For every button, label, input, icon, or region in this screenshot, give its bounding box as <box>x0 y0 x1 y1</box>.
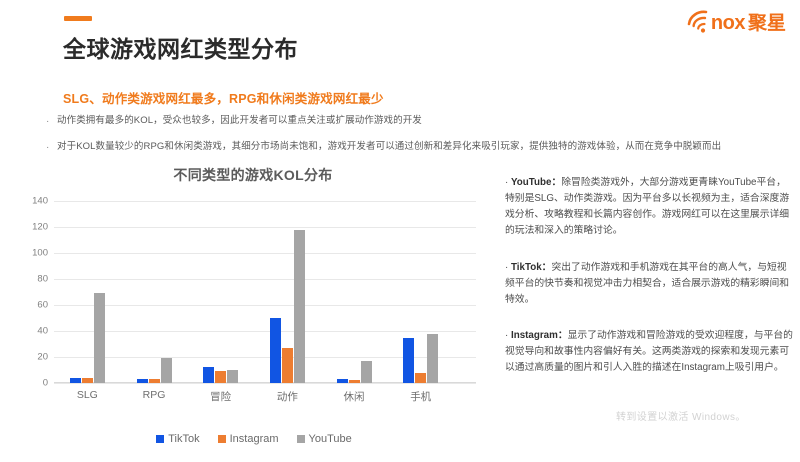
chart-y-tick-label: 20 <box>37 352 48 363</box>
chart-bar-instagram-手机[interactable] <box>415 373 426 383</box>
chart-plot-area: 140120100806040200 <box>54 201 454 383</box>
logo-wordmark: nox <box>711 13 745 33</box>
chart-bar-group <box>54 201 121 383</box>
note-instagram: · Instagram：显示了动作游戏和冒险游戏的受欢迎程度，与平台的视觉导向和… <box>505 328 793 376</box>
chart-x-tick-label: 手机 <box>387 389 454 404</box>
watermark-line: 转到设置以激活 Windows。 <box>616 408 746 423</box>
chart-bar-instagram-动作[interactable] <box>282 348 293 383</box>
chart-y-tick-label: 0 <box>43 378 48 389</box>
bullet-marker: · <box>46 114 57 129</box>
legend-label: TikTok <box>168 433 199 445</box>
chart-bar-tiktok-冒险[interactable] <box>203 367 214 383</box>
chart-title: 不同类型的游戏KOL分布 <box>18 165 488 185</box>
legend-item-youtube[interactable]: YouTube <box>297 433 352 445</box>
chart-bar-instagram-RPG[interactable] <box>149 379 160 383</box>
note-lead: Instagram： <box>511 330 568 341</box>
chart-bar-tiktok-手机[interactable] <box>403 338 414 384</box>
chart-bar-tiktok-休闲[interactable] <box>337 379 348 383</box>
chart-bar-youtube-SLG[interactable] <box>94 293 105 383</box>
bullet-marker: · <box>46 140 57 155</box>
chart-x-tick-label: 动作 <box>254 389 321 404</box>
chart-bar-group <box>121 201 188 383</box>
chart-bar-tiktok-动作[interactable] <box>270 318 281 383</box>
note-youtube: · YouTube：除冒险类游戏外，大部分游戏更青睐YouTube平台，特别是S… <box>505 175 793 240</box>
slide-canvas: 全球游戏网红类型分布 SLG、动作类游戏网红最多，RPG和休闲类游戏网红最少 n… <box>0 0 800 462</box>
chart-bar-instagram-SLG[interactable] <box>82 378 93 383</box>
page-title: 全球游戏网红类型分布 <box>63 30 298 64</box>
list-item: · 对于KOL数量较少的RPG和休闲类游戏，其细分市场尚未饱和，游戏开发者可以通… <box>46 140 786 155</box>
kol-distribution-chart: 不同类型的游戏KOL分布 140120100806040200 SLGRPG冒险… <box>18 165 488 455</box>
chart-y-tick-label: 60 <box>37 300 48 311</box>
chart-y-tick-label: 120 <box>32 222 48 233</box>
legend-item-instagram[interactable]: Instagram <box>218 433 279 445</box>
chart-y-tick-label: 80 <box>37 274 48 285</box>
chart-y-tick-label: 40 <box>37 326 48 337</box>
note-marker: · <box>505 330 508 341</box>
platform-notes: · YouTube：除冒险类游戏外，大部分游戏更青睐YouTube平台，特别是S… <box>505 175 793 397</box>
chart-bar-group <box>254 201 321 383</box>
page-subtitle: SLG、动作类游戏网红最多，RPG和休闲类游戏网红最少 <box>63 88 384 107</box>
logo-wordmark-cn: 聚星 <box>748 14 786 33</box>
list-item: · 动作类拥有最多的KOL，受众也较多，因此开发者可以重点关注或扩展动作游戏的开… <box>46 114 786 129</box>
legend-swatch <box>218 435 226 443</box>
note-lead: YouTube： <box>511 177 561 188</box>
chart-bar-instagram-冒险[interactable] <box>215 371 226 383</box>
legend-swatch <box>297 435 305 443</box>
wifi-arc-icon <box>684 8 710 38</box>
chart-bar-youtube-手机[interactable] <box>427 334 438 383</box>
chart-bar-group <box>321 201 388 383</box>
chart-bar-youtube-冒险[interactable] <box>227 370 238 383</box>
chart-bar-tiktok-SLG[interactable] <box>70 378 81 383</box>
bullet-text: 动作类拥有最多的KOL，受众也较多，因此开发者可以重点关注或扩展动作游戏的开发 <box>57 114 786 128</box>
bullet-list: · 动作类拥有最多的KOL，受众也较多，因此开发者可以重点关注或扩展动作游戏的开… <box>46 114 786 166</box>
chart-bar-groups <box>54 201 454 383</box>
note-lead: TikTok： <box>511 262 551 273</box>
legend-label: YouTube <box>309 433 352 445</box>
chart-gridline: 0 <box>54 383 476 384</box>
note-tiktok: · TikTok：突出了动作游戏和手机游戏在其平台的高人气，与短视频平台的快节奏… <box>505 260 793 308</box>
legend-label: Instagram <box>230 433 279 445</box>
chart-bar-youtube-休闲[interactable] <box>361 361 372 383</box>
note-marker: · <box>505 262 508 273</box>
chart-bar-group <box>387 201 454 383</box>
chart-x-tick-label: 休闲 <box>321 389 388 404</box>
chart-bar-youtube-RPG[interactable] <box>161 358 172 383</box>
chart-x-tick-label: RPG <box>121 389 188 404</box>
chart-bar-group <box>187 201 254 383</box>
brand-logo: nox 聚星 <box>684 8 786 38</box>
chart-x-axis-labels: SLGRPG冒险动作休闲手机 <box>54 389 454 404</box>
chart-bar-tiktok-RPG[interactable] <box>137 379 148 383</box>
chart-y-tick-label: 100 <box>32 248 48 259</box>
legend-item-tiktok[interactable]: TikTok <box>156 433 199 445</box>
accent-dash <box>64 16 92 21</box>
windows-activation-watermark: 转到设置以激活 Windows。 <box>616 408 746 423</box>
chart-bar-youtube-动作[interactable] <box>294 230 305 383</box>
chart-x-tick-label: 冒险 <box>187 389 254 404</box>
legend-swatch <box>156 435 164 443</box>
chart-bar-instagram-休闲[interactable] <box>349 380 360 383</box>
chart-legend: TikTokInstagramYouTube <box>54 433 454 445</box>
note-marker: · <box>505 177 508 188</box>
bullet-text: 对于KOL数量较少的RPG和休闲类游戏，其细分市场尚未饱和，游戏开发者可以通过创… <box>57 140 786 154</box>
chart-y-tick-label: 140 <box>32 196 48 207</box>
chart-x-tick-label: SLG <box>54 389 121 404</box>
